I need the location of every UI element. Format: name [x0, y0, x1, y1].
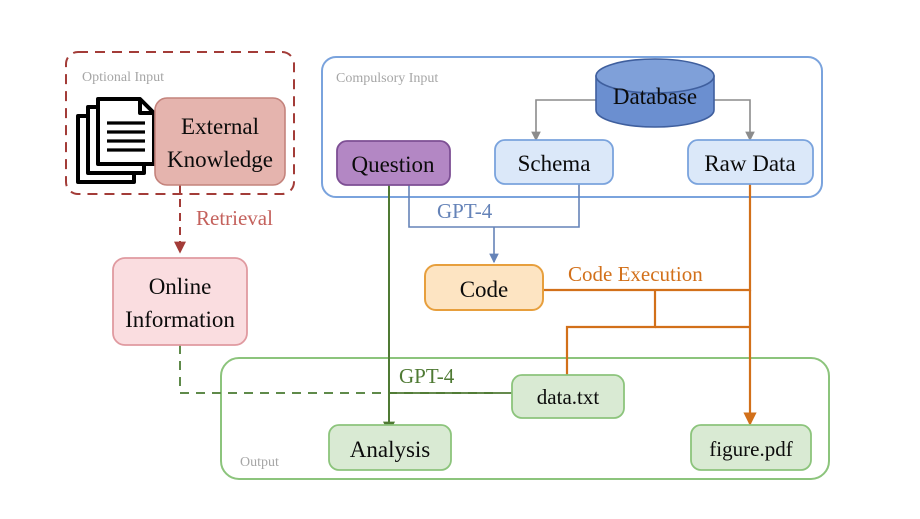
- figure-pdf-label: figure.pdf: [709, 437, 792, 461]
- node-analysis[interactable]: Analysis: [329, 425, 451, 470]
- diagram-canvas: Optional Input Compulsory Input Output R…: [0, 0, 920, 519]
- compulsory-input-label: Compulsory Input: [336, 71, 438, 86]
- documents-stack-icon: [78, 99, 154, 182]
- node-database[interactable]: Database: [596, 59, 714, 127]
- node-raw-data[interactable]: Raw Data: [688, 140, 813, 184]
- node-question[interactable]: Question: [337, 141, 450, 185]
- edge-label-retrieval: Retrieval: [196, 206, 273, 230]
- edge-label-code-execution: Code Execution: [568, 262, 703, 286]
- output-label: Output: [240, 455, 279, 470]
- online-information-label-line2: Information: [125, 307, 235, 332]
- edge-label-gpt4-analysis: GPT-4: [399, 364, 455, 388]
- external-knowledge-label-line2: Knowledge: [167, 147, 273, 172]
- edge-database-to-raw-data: [714, 100, 750, 140]
- node-figure-pdf[interactable]: figure.pdf: [691, 425, 811, 470]
- online-information-label-line1: Online: [149, 274, 212, 299]
- database-label: Database: [613, 84, 697, 109]
- code-label: Code: [460, 277, 509, 302]
- edge-label-gpt4-code: GPT-4: [437, 199, 493, 223]
- data-txt-label: data.txt: [537, 385, 600, 409]
- edge-database-to-schema: [536, 100, 596, 140]
- schema-label: Schema: [518, 151, 591, 176]
- optional-input-label: Optional Input: [82, 70, 164, 85]
- node-code[interactable]: Code: [425, 265, 543, 310]
- node-external-knowledge[interactable]: External Knowledge: [155, 98, 285, 185]
- node-data-txt[interactable]: data.txt: [512, 375, 624, 418]
- edge-question-schema-join: [409, 184, 579, 227]
- node-schema[interactable]: Schema: [495, 140, 613, 184]
- external-knowledge-label-line1: External: [181, 114, 259, 139]
- pipeline-diagram: Optional Input Compulsory Input Output R…: [0, 0, 920, 519]
- question-label: Question: [351, 152, 435, 177]
- raw-data-label: Raw Data: [704, 151, 795, 176]
- node-online-information[interactable]: Online Information: [113, 258, 247, 345]
- analysis-label: Analysis: [350, 437, 431, 462]
